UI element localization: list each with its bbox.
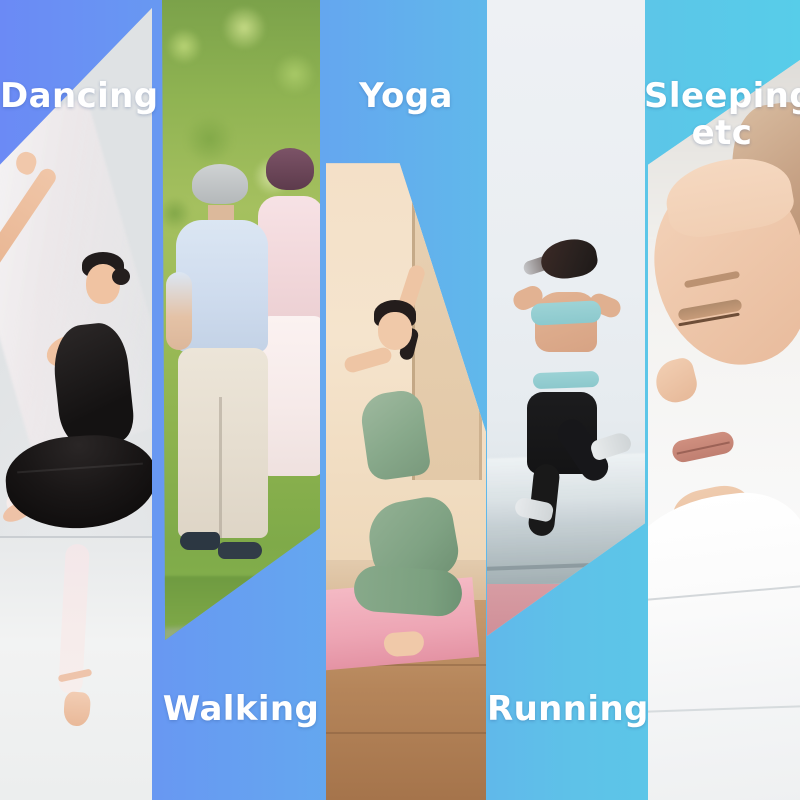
yoga-studio-background — [326, 0, 486, 800]
sleeper-nose — [652, 356, 701, 406]
sleeper-lips — [670, 430, 735, 464]
panel-dancing[interactable] — [0, 0, 152, 800]
photo-running — [487, 0, 645, 800]
walker-man-trousers — [178, 348, 268, 538]
walker-woman-hair — [266, 148, 314, 190]
activity-collage: Dancing Walking Yoga Running Sleeping et… — [0, 0, 800, 800]
walker-man-shoe-right — [218, 542, 262, 559]
park-background — [162, 0, 320, 800]
duvet — [648, 485, 800, 800]
walker-woman-skirt — [260, 316, 320, 476]
park-path — [162, 619, 320, 740]
park-grass — [162, 576, 320, 800]
dancer-tutu — [3, 431, 152, 533]
photo-sleeping — [648, 0, 800, 800]
walker-man-hair — [192, 164, 248, 204]
photo-walking — [162, 0, 320, 800]
runner-sports-bra — [530, 301, 601, 327]
dancer-hair-bun — [112, 268, 130, 285]
yogi-sports-top — [358, 388, 431, 482]
running-track — [487, 584, 645, 728]
dance-studio-backdrop — [0, 0, 152, 800]
runner-hair — [538, 235, 600, 282]
runner-waistband — [533, 371, 600, 389]
panel-sleeping[interactable] — [648, 0, 800, 800]
yogi-head — [378, 312, 412, 350]
yogi-legs — [353, 564, 464, 617]
yoga-mirror — [326, 31, 445, 144]
panel-running[interactable] — [487, 0, 645, 800]
bedroom-background — [648, 0, 800, 800]
stadium-background — [487, 0, 645, 800]
walker-man-shoe-left — [180, 532, 220, 550]
panel-walking[interactable] — [162, 0, 320, 800]
panel-yoga[interactable] — [326, 0, 486, 800]
photo-dancing — [0, 0, 152, 800]
photo-yoga — [326, 0, 486, 800]
walker-man-arm — [166, 272, 192, 350]
track-infield-grass — [487, 712, 645, 800]
yoga-ceiling — [326, 0, 486, 104]
